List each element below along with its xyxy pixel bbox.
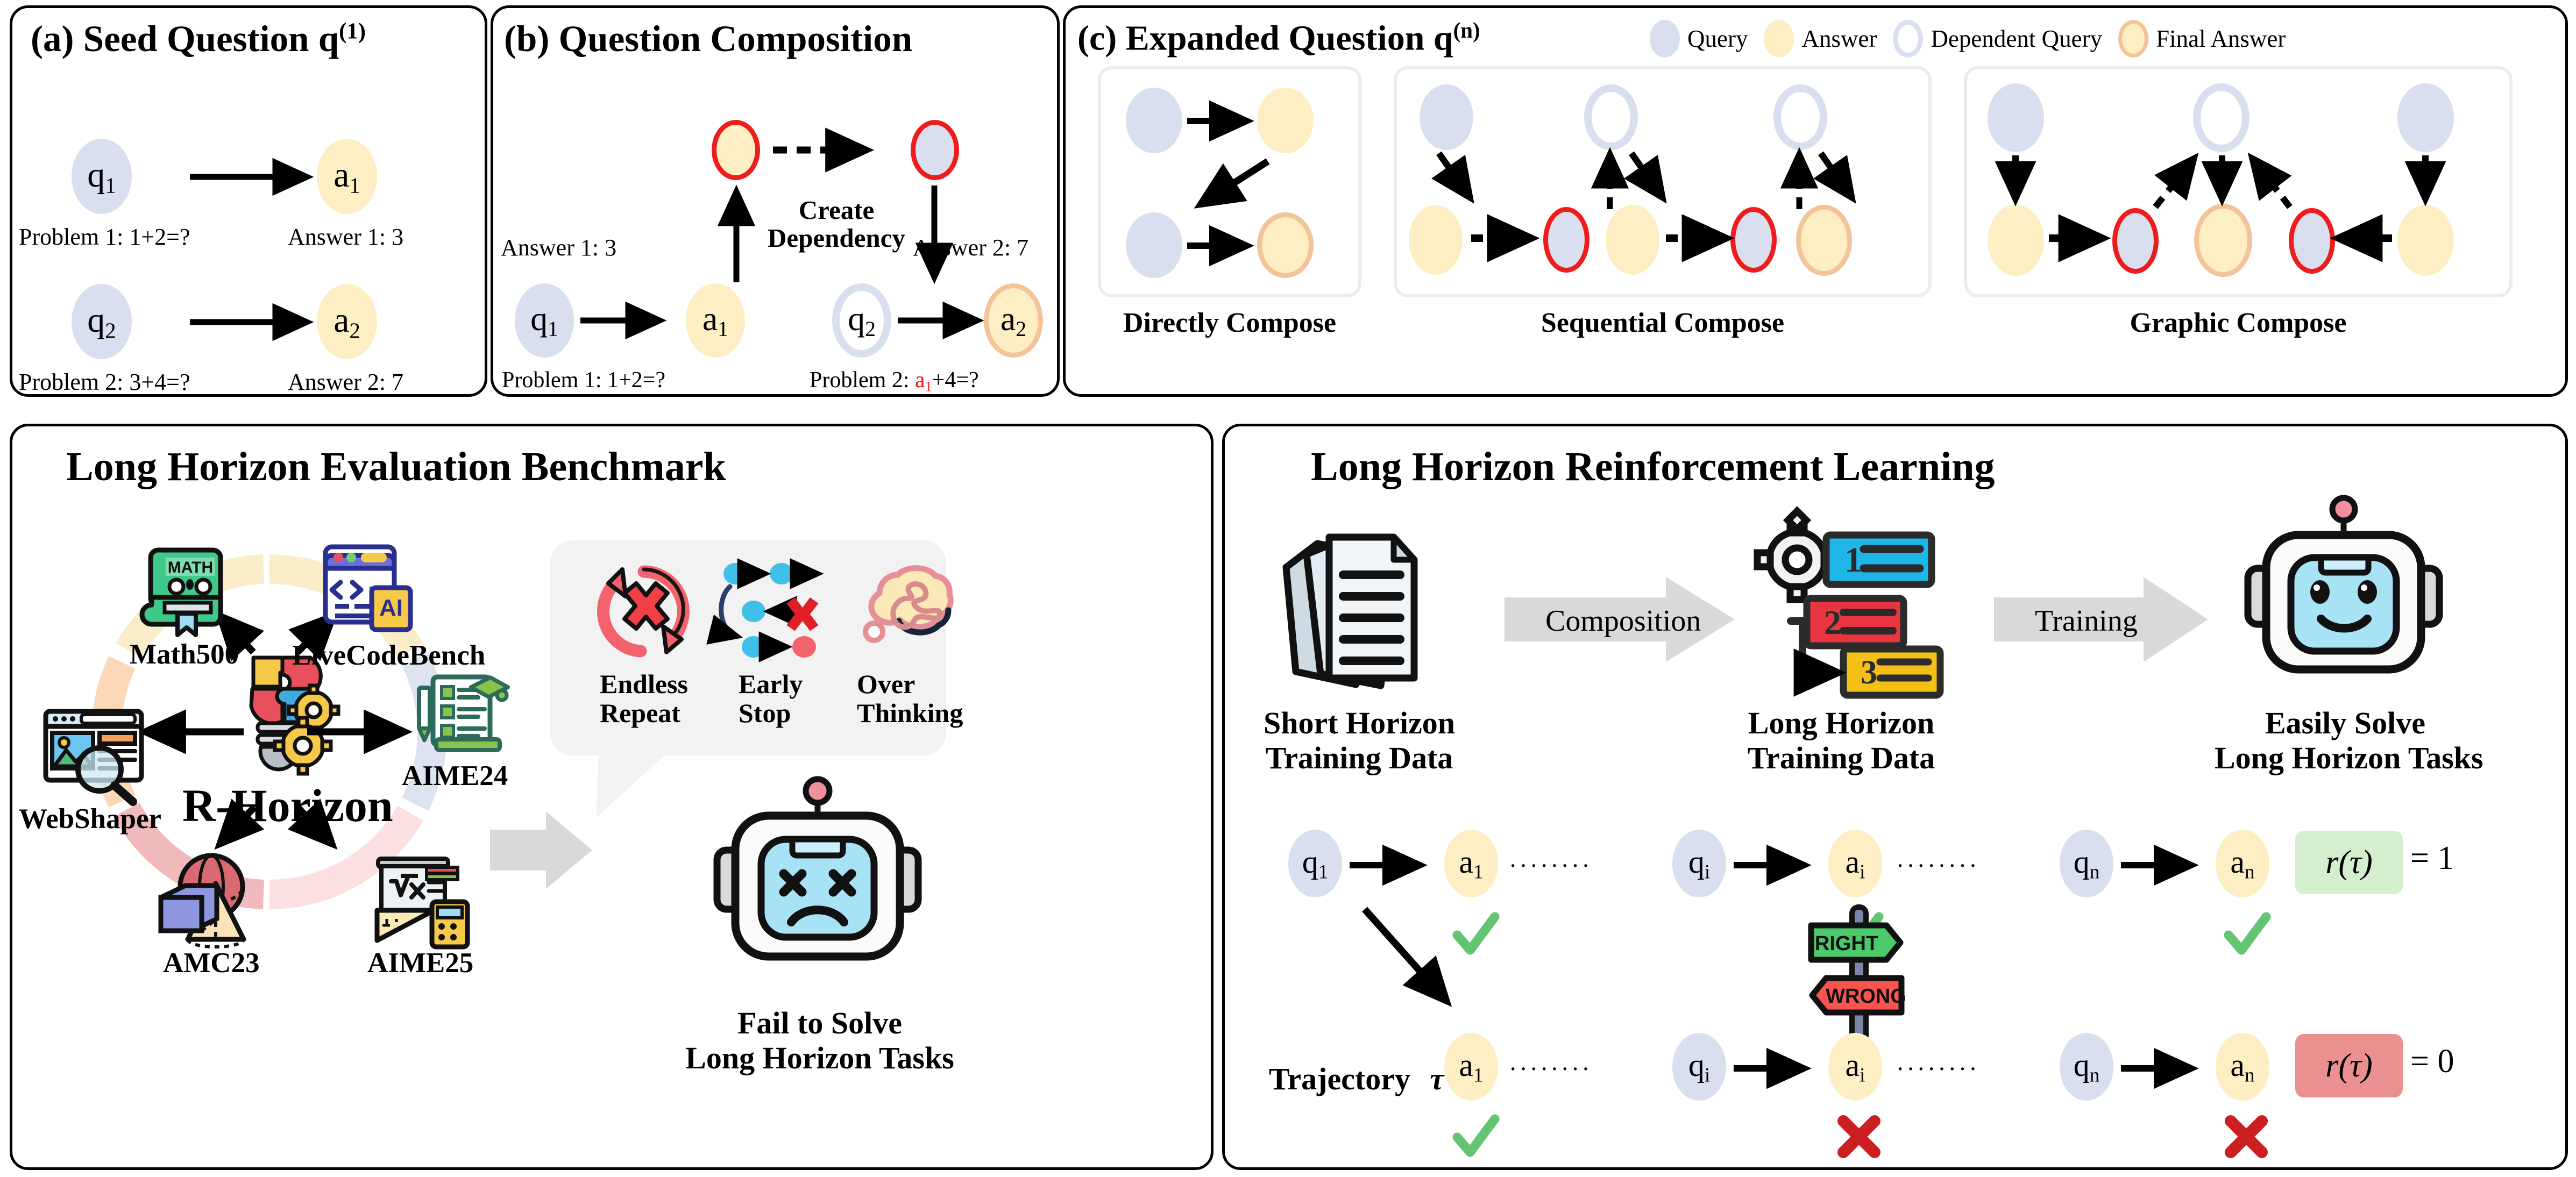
benchmark-donut-ring (65, 527, 474, 936)
gc-node-query-right (2397, 83, 2454, 152)
training-arrow-label: Training (2035, 604, 2138, 638)
legend-item-final-answer: Final Answer (2118, 20, 2286, 58)
problem-2-text-b: Problem 2: a1+4=? (810, 367, 979, 395)
node-q1-b-subscript: 1 (548, 318, 558, 341)
benchmark-result-text: Fail to Solve Long Horizon Tasks (661, 1006, 978, 1076)
node-q1-label: q (87, 155, 105, 195)
rl-stage-2-line1: Easily Solve (2215, 706, 2476, 741)
traj-r2-ellipsis-2: ········ (1896, 1054, 1979, 1083)
rl-stage-1-line1: Long Horizon (1734, 706, 1949, 741)
caption-directly-compose: Directly Compose (1098, 307, 1361, 339)
node-a1-label: a (333, 155, 349, 195)
sc-arrow-dashed-right-1 (1471, 230, 1546, 251)
traj-r2-arrow-1 (1734, 1060, 1820, 1081)
gc-node-answer-right (2397, 205, 2454, 276)
benchmark-result-line1: Fail to Solve (661, 1006, 978, 1041)
node-q2-b-label: q (848, 299, 865, 338)
node-q2: q2 (72, 284, 132, 359)
traj-r1-node-qi: qi (1672, 830, 1726, 897)
benchmark-result-line2: Long Horizon Tasks (661, 1041, 978, 1076)
browser-search-icon (40, 706, 156, 803)
rl-stage-0-line2: Training Data (1262, 741, 1456, 776)
traj-r1-arrow-2 (1734, 857, 1820, 878)
benchmark-result-arrow (490, 808, 598, 894)
node-a2-subscript: 2 (349, 318, 360, 343)
failure-1-line1: Early (739, 669, 803, 698)
traj-r2-node-a1: a1 (1444, 1033, 1498, 1101)
problem-2-suffix: +4=? (932, 368, 979, 393)
traj-r1-check-2 (1835, 910, 1883, 959)
legend-label-query: Query (1687, 25, 1748, 53)
r-horizon-hub-label: R-Horizon (182, 779, 393, 832)
legend-swatch-dependent-query (1893, 20, 1923, 58)
traj-r2-node-qn: qn (2060, 1033, 2113, 1101)
panel-seed-question: (a) Seed Question q(1) q1 a1 Problem 1: … (10, 5, 487, 397)
gc-node-answer-left (1988, 205, 2044, 276)
reward-value-2: = 0 (2410, 1043, 2454, 1081)
svg-text:MATH: MATH (168, 559, 213, 576)
problem-2-text: Problem 2: 3+4=? (19, 368, 190, 396)
sign-right-text: RIGHT (1815, 932, 1878, 955)
traj-r2-ellipsis-1: ········ (1509, 1054, 1592, 1083)
dc-node-query-2 (1126, 212, 1182, 278)
traj-r2-node-qi: qi (1672, 1033, 1726, 1101)
legend-label-dependent-query: Dependent Query (1931, 25, 2102, 53)
answer-2-label-b: Answer 2: 7 (913, 234, 1028, 261)
gc-node-dep-marker-left (2112, 208, 2159, 274)
node-q2-b-subscript: 2 (865, 318, 876, 341)
dc-arrow-top (1187, 112, 1262, 134)
traj-r1-ellipsis-1: ········ (1509, 851, 1592, 880)
gc-arrow-dashed-up-left (2145, 155, 2215, 215)
node-q2-label: q (87, 301, 105, 340)
sc-node-dep-marker-2 (1730, 207, 1777, 273)
create-label-line2: Dependency (767, 224, 906, 252)
reward-value-1: = 1 (2410, 839, 2454, 878)
node-q2-b-dependent: q2 (832, 283, 891, 358)
sc-node-dep-query-3 (1773, 84, 1827, 150)
sad-robot-icon (702, 781, 933, 996)
failure-label-over-thinking: Over Thinking (857, 669, 963, 727)
node-a1: a1 (317, 139, 377, 214)
sc-node-query-1 (1420, 84, 1473, 150)
gc-node-dep-query-center (2193, 83, 2249, 152)
mode-box-sequential-compose (1394, 66, 1932, 297)
rl-stage-label-short-horizon: Short Horizon Training Data (1262, 706, 1456, 776)
node-q1: q1 (72, 139, 132, 214)
sc-arrow-q3-to-a3 (1818, 151, 1877, 210)
arrow-create-dependency-dashed (773, 140, 902, 164)
sc-arrow-dashed-up-1 (1596, 149, 1628, 213)
traj-r2-check-1 (1451, 1112, 1499, 1161)
panel-b-title: (b) Question Composition (504, 18, 912, 60)
traj-r1-node-qn: qn (2060, 830, 2113, 897)
gc-arrow-down-left (2003, 155, 2035, 211)
geometry-solids-icon (151, 851, 264, 948)
failure-0-line2: Repeat (600, 698, 688, 727)
traj-r2-arrow-2 (2121, 1060, 2207, 1081)
rl-stage-label-long-horizon: Long Horizon Training Data (1734, 706, 1949, 776)
traj-r1-check-1 (1451, 910, 1499, 959)
answer-1-label-b: Answer 1: 3 (501, 234, 616, 261)
answer-2-text: Answer 2: 7 (288, 368, 403, 396)
node-q1-b-label: q (530, 299, 548, 338)
arrow-q1-a1-b (580, 312, 677, 333)
rl-stage-2-line2: Long Horizon Tasks (2215, 741, 2476, 776)
panel-a-title: (a) Seed Question q(1) (31, 18, 366, 60)
gc-arrow-dashed-up-right (2231, 155, 2301, 215)
node-q1-b: q1 (515, 283, 574, 358)
dc-node-query-1 (1126, 88, 1182, 153)
trajectory-label-text: Trajectory (1269, 1061, 1410, 1096)
panel-a-title-text: (a) Seed Question q (31, 18, 339, 59)
svg-text:3: 3 (1861, 654, 1877, 691)
sc-arrow-q1-to-a1 (1436, 151, 1495, 210)
traj-r1-node-q1: q1 (1288, 830, 1342, 897)
sc-node-dep-marker-1 (1543, 207, 1589, 273)
problem-2-prefix: Problem 2: (810, 368, 915, 393)
dc-arrow-bottom (1187, 237, 1262, 259)
failure-0-line1: Endless (600, 669, 688, 698)
node-a2: a2 (317, 284, 377, 359)
failure-label-early-stop: Early Stop (739, 669, 803, 727)
failure-2-line2: Thinking (857, 698, 963, 727)
svg-text:AI: AI (379, 595, 403, 621)
node-q2-subscript: 2 (105, 318, 116, 343)
sc-node-answer-2 (1606, 205, 1659, 275)
benchmark-label-webshaper: WebShaper (19, 803, 161, 835)
create-dependency-label: Create Dependency (767, 196, 906, 252)
panel-expanded-question: (c) Expanded Question q(n) Query Answer … (1063, 5, 2568, 397)
node-a2-b-final: a2 (984, 283, 1043, 358)
traj-r2-node-an: an (2216, 1033, 2269, 1101)
panel-a-title-superscript: (1) (339, 18, 366, 44)
sc-arrow-q2-to-a2 (1628, 151, 1687, 210)
mode-box-graphic-compose (1964, 66, 2513, 297)
sc-node-answer-1 (1409, 205, 1463, 275)
ordered-list-gear-icon: 1 2 3 (1763, 526, 1951, 698)
legend-label-final-answer: Final Answer (2156, 25, 2286, 53)
traj-r1-node-ai: ai (1828, 830, 1882, 897)
trajectory-symbol: τ (1430, 1061, 1444, 1096)
trajectory-label: Trajectory τ (1269, 1061, 1444, 1097)
documents-icon (1279, 529, 1440, 695)
code-window-icon: AI (320, 544, 417, 638)
node-a1-b-subscript: 1 (718, 318, 728, 341)
sc-arrow-dashed-right-2 (1666, 230, 1741, 251)
arrow-q1-a1 (190, 168, 324, 190)
gc-arrow-down-right (2412, 155, 2445, 211)
calculator-ruler-icon (368, 851, 473, 948)
legend-item-query: Query (1650, 20, 1748, 58)
rl-stage-1-line2: Training Data (1734, 741, 1949, 776)
panel-question-composition: (b) Question Composition Create Dependen… (491, 5, 1060, 397)
dc-node-final-answer (1257, 212, 1314, 278)
gc-arrow-dashed-left-in (2333, 230, 2403, 251)
panel-c-title-text: (c) Expanded Question q (1077, 19, 1453, 58)
legend-swatch-final-answer (2118, 20, 2148, 58)
traj-r1-arrow-3 (2121, 857, 2207, 878)
node-q1-subscript: 1 (105, 173, 116, 197)
dc-arrow-diagonal (1182, 158, 1279, 217)
problem-1-text: Problem 1: 1+2=? (19, 223, 190, 251)
panel-evaluation-benchmark: Long Horizon Evaluation Benchmark R-Hori… (10, 424, 1214, 1170)
gc-arrow-down-center (2209, 155, 2241, 211)
benchmark-label-aime25: AIME25 (367, 947, 473, 979)
gc-node-dep-marker-right (2289, 208, 2335, 274)
arrow-q2-a2 (190, 313, 324, 335)
node-a2-b-subscript: 2 (1016, 318, 1026, 341)
sc-arrow-dashed-up-2 (1785, 149, 1818, 213)
sc-node-final-answer (1796, 205, 1852, 276)
problem-1-text-b: Problem 1: 1+2=? (502, 367, 665, 393)
failure-2-line1: Over (857, 669, 963, 698)
legend-item-answer: Answer (1764, 20, 1877, 58)
benchmark-label-aime24: AIME24 (402, 760, 508, 792)
benchmark-title: Long Horizon Evaluation Benchmark (66, 444, 726, 490)
sign-wrong-text: WRONG (1826, 985, 1906, 1008)
node-a1-b: a1 (686, 283, 745, 358)
arrow-q2-a2-b (898, 312, 995, 333)
node-dep-answer-top (712, 120, 760, 180)
legend-swatch-answer (1764, 20, 1794, 58)
traj-r1-ellipsis-2: ········ (1896, 851, 1979, 880)
composition-arrow-label: Composition (1545, 604, 1701, 638)
dc-node-answer-1 (1257, 88, 1314, 153)
node-a2-b-label: a (1000, 299, 1016, 338)
trajectory-branch-arrow (1359, 905, 1478, 1029)
node-a1-subscript: 1 (349, 173, 360, 197)
node-a1-b-label: a (702, 299, 718, 338)
rl-stage-0-line1: Short Horizon (1262, 706, 1456, 741)
legend-item-dependent-query: Dependent Query (1893, 20, 2102, 58)
caption-sequential-compose: Sequential Compose (1394, 307, 1932, 339)
gc-node-final-answer (2194, 204, 2252, 277)
benchmark-label-livecodebench: LiveCodeBench (292, 639, 485, 672)
happy-robot-icon (2236, 502, 2451, 706)
node-dep-query-top (911, 120, 959, 180)
panel-c-title-superscript: (n) (1453, 18, 1480, 42)
node-a2-label: a (333, 301, 349, 340)
failure-label-endless-repeat: Endless Repeat (600, 669, 688, 727)
svg-text:2: 2 (1824, 603, 1841, 641)
arrow-a1-up (723, 186, 756, 288)
traj-r1-check-3 (2222, 910, 2270, 959)
math-book-icon: MATH (144, 546, 230, 637)
traj-r2-cross-1 (1835, 1112, 1883, 1161)
problem-2-variable: a1 (915, 368, 932, 393)
failure-1-line2: Stop (739, 698, 803, 727)
reward-box-2: r(τ) (2295, 1034, 2403, 1097)
failure-bubble-tail (577, 752, 679, 822)
panel-c-title: (c) Expanded Question q(n) (1077, 18, 1480, 59)
panel-reinforcement-learning: Long Horizon Reinforcement Learning Shor… (1222, 424, 2568, 1170)
legend-swatch-query (1650, 20, 1680, 58)
traj-r2-node-ai: ai (1828, 1033, 1882, 1101)
traj-r1-node-a1: a1 (1444, 830, 1498, 897)
rl-stage-label-easily-solve: Easily Solve Long Horizon Tasks (2215, 706, 2476, 776)
exam-paper-icon (415, 668, 514, 757)
traj-r1-arrow-1 (1350, 857, 1436, 878)
svg-text:1: 1 (1844, 540, 1862, 580)
hub-spoke-arrows (82, 588, 459, 889)
reward-box-1: r(τ) (2295, 831, 2403, 894)
mode-box-directly-compose (1098, 66, 1361, 297)
answer-1-text: Answer 1: 3 (288, 223, 403, 251)
traj-r2-cross-2 (2222, 1112, 2270, 1161)
legend-label-answer: Answer (1801, 25, 1877, 53)
benchmark-label-amc23: AMC23 (163, 947, 260, 979)
gc-node-query-left (1988, 83, 2044, 152)
legend: Query Answer Dependent Query Final Answe… (1650, 20, 2286, 58)
traj-r1-node-an: an (2216, 830, 2269, 897)
create-label-line1: Create (767, 196, 906, 224)
sc-node-dep-query-2 (1584, 84, 1638, 150)
benchmark-label-math500: Math500 (130, 638, 239, 670)
caption-graphic-compose: Graphic Compose (1964, 307, 2513, 339)
gc-arrow-dashed-right-in (2049, 230, 2119, 251)
rl-title: Long Horizon Reinforcement Learning (1311, 444, 1995, 490)
